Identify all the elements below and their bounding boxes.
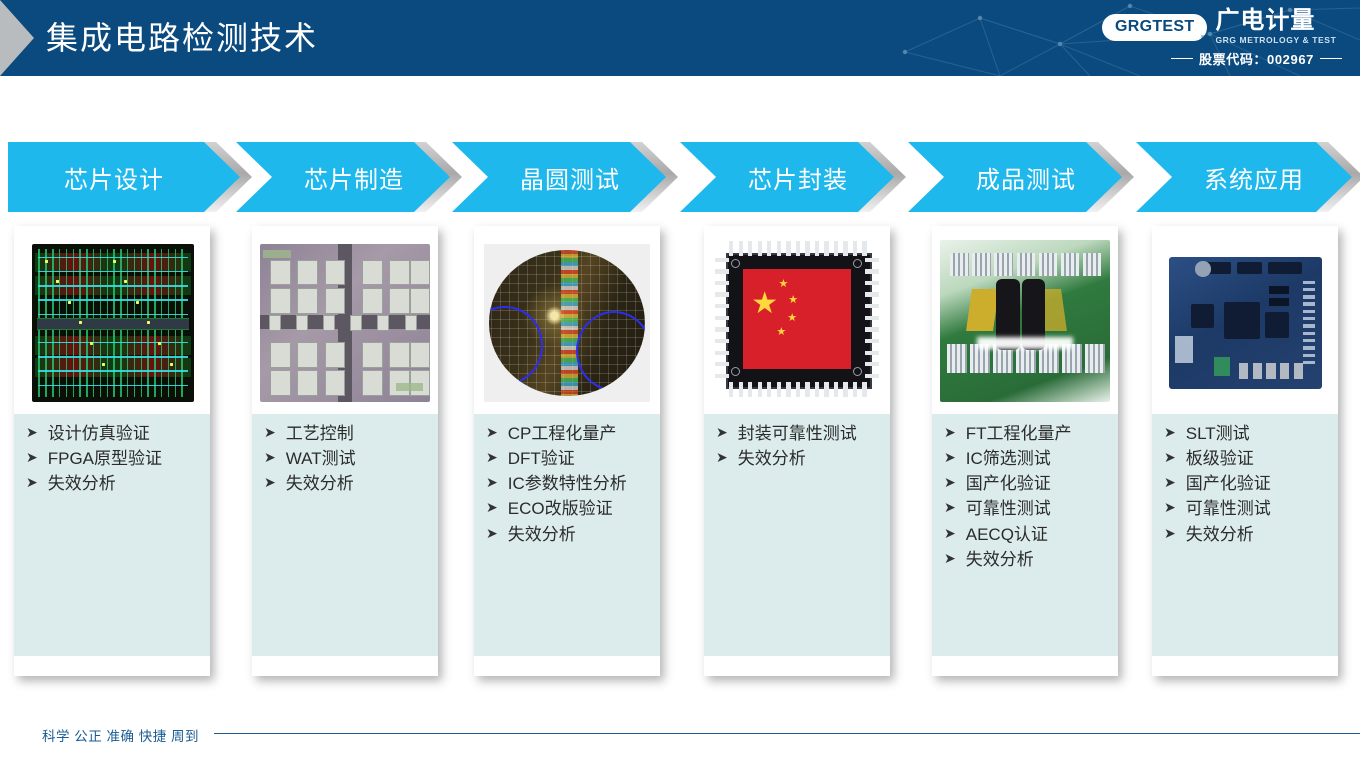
arrow-bullet-icon: ➤ bbox=[26, 422, 38, 444]
list-item[interactable]: ➤FPGA原型验证 bbox=[26, 447, 204, 471]
list-item[interactable]: ➤可靠性测试 bbox=[944, 497, 1112, 521]
list-item[interactable]: ➤封装可靠性测试 bbox=[716, 422, 884, 446]
arrow-bullet-icon: ➤ bbox=[716, 422, 728, 444]
ic-layout-thumbnail bbox=[32, 244, 194, 402]
stage-card-6[interactable]: ➤SLT测试➤板级验证➤国产化验证➤可靠性测试➤失效分析 bbox=[1152, 226, 1338, 676]
ic-layout-art bbox=[32, 244, 194, 402]
bullet-list: ➤设计仿真验证➤FPGA原型验证➤失效分析 bbox=[20, 422, 204, 496]
stage-image-2 bbox=[252, 226, 438, 414]
bullet-list: ➤SLT测试➤板级验证➤国产化验证➤可靠性测试➤失效分析 bbox=[1158, 422, 1332, 547]
arrow-bullet-icon: ➤ bbox=[1164, 523, 1176, 545]
chevron-stage-3[interactable]: 晶圆测试 bbox=[452, 142, 666, 212]
chevron-stage-2[interactable]: 芯片制造 bbox=[236, 142, 450, 212]
stage-card-4[interactable]: ★★★★★➤封装可靠性测试➤失效分析 bbox=[704, 226, 890, 676]
arrow-bullet-icon: ➤ bbox=[486, 447, 498, 469]
chevron-stage-5[interactable]: 成品测试 bbox=[908, 142, 1122, 212]
arrow-bullet-icon: ➤ bbox=[1164, 497, 1176, 519]
stage-items-5: ➤FT工程化量产➤IC筛选测试➤国产化验证➤可靠性测试➤AECQ认证➤失效分析 bbox=[932, 414, 1118, 656]
test-board-thumbnail bbox=[940, 240, 1110, 402]
page-footer: 科学 公正 准确 快捷 周到 bbox=[0, 713, 1360, 759]
arrow-bullet-icon: ➤ bbox=[264, 472, 276, 494]
company-logo: GRGTEST ® 广电计量 GRG METROLOGY & TEST 股票代码… bbox=[1102, 10, 1342, 68]
list-item-label: 设计仿真验证 bbox=[48, 422, 204, 446]
chevron-label: 系统应用 bbox=[1204, 160, 1304, 195]
list-item-label: SLT测试 bbox=[1186, 422, 1332, 446]
stage-items-6: ➤SLT测试➤板级验证➤国产化验证➤可靠性测试➤失效分析 bbox=[1152, 414, 1338, 656]
stage-items-3: ➤CP工程化量产➤DFT验证➤IC参数特性分析➤ECO改版验证➤失效分析 bbox=[474, 414, 660, 656]
list-item[interactable]: ➤板级验证 bbox=[1164, 447, 1332, 471]
chevron-stage-4[interactable]: 芯片封装 bbox=[680, 142, 894, 212]
chevron-label: 晶圆测试 bbox=[520, 160, 620, 195]
list-item-label: 失效分析 bbox=[738, 447, 884, 471]
list-item-label: 国产化验证 bbox=[966, 472, 1112, 496]
chevron-stage-6[interactable]: 系统应用 bbox=[1136, 142, 1352, 212]
page-title: 集成电路检测技术 bbox=[46, 13, 318, 59]
stock-code-text: 股票代码：002967 bbox=[1199, 49, 1314, 68]
arrow-bullet-icon: ➤ bbox=[944, 472, 956, 494]
chevron-label: 芯片制造 bbox=[304, 160, 404, 195]
arrow-bullet-icon: ➤ bbox=[264, 422, 276, 444]
arrow-bullet-icon: ➤ bbox=[944, 497, 956, 519]
arrow-bullet-icon: ➤ bbox=[486, 422, 498, 444]
footer-slogan: 科学 公正 准确 快捷 周到 bbox=[42, 725, 199, 745]
stage-image-3 bbox=[474, 226, 660, 414]
arrow-bullet-icon: ➤ bbox=[716, 447, 728, 469]
list-item-label: 失效分析 bbox=[966, 548, 1112, 572]
list-item-label: 板级验证 bbox=[1186, 447, 1332, 471]
stage-items-2: ➤工艺控制➤WAT测试➤失效分析 bbox=[252, 414, 438, 656]
arrow-bullet-icon: ➤ bbox=[944, 422, 956, 444]
arrow-bullet-icon: ➤ bbox=[944, 523, 956, 545]
list-item[interactable]: ➤CP工程化量产 bbox=[486, 422, 654, 446]
list-item[interactable]: ➤设计仿真验证 bbox=[26, 422, 204, 446]
list-item-label: 可靠性测试 bbox=[966, 497, 1112, 521]
arrow-bullet-icon: ➤ bbox=[486, 523, 498, 545]
footer-rule bbox=[214, 733, 1360, 734]
list-item-label: 国产化验证 bbox=[1186, 472, 1332, 496]
process-chevron-band: 芯片设计芯片制造晶圆测试芯片封装成品测试系统应用 bbox=[0, 142, 1360, 212]
arrow-bullet-icon: ➤ bbox=[26, 447, 38, 469]
arrow-bullet-icon: ➤ bbox=[1164, 422, 1176, 444]
logo-chinese-name: 广电计量 bbox=[1215, 9, 1315, 33]
list-item-label: 可靠性测试 bbox=[1186, 497, 1332, 521]
list-item[interactable]: ➤失效分析 bbox=[264, 472, 432, 496]
stage-image-5 bbox=[932, 226, 1118, 414]
arrow-bullet-icon: ➤ bbox=[1164, 447, 1176, 469]
arrow-bullet-icon: ➤ bbox=[264, 447, 276, 469]
stock-code-rule-left bbox=[1171, 58, 1193, 59]
list-item-label: IC筛选测试 bbox=[966, 447, 1112, 471]
grgtest-text: GRGTEST bbox=[1115, 18, 1194, 36]
list-item[interactable]: ➤失效分析 bbox=[944, 548, 1112, 572]
list-item-label: DFT验证 bbox=[508, 447, 654, 471]
stage-card-5[interactable]: ➤FT工程化量产➤IC筛选测试➤国产化验证➤可靠性测试➤AECQ认证➤失效分析 bbox=[932, 226, 1118, 676]
list-item-label: 失效分析 bbox=[48, 472, 204, 496]
list-item[interactable]: ➤IC参数特性分析 bbox=[486, 472, 654, 496]
list-item[interactable]: ➤失效分析 bbox=[1164, 523, 1332, 547]
silicon-wafer-art bbox=[484, 244, 650, 402]
arrow-bullet-icon: ➤ bbox=[26, 472, 38, 494]
list-item[interactable]: ➤国产化验证 bbox=[1164, 472, 1332, 496]
registered-mark: ® bbox=[1201, 36, 1206, 42]
list-item[interactable]: ➤FT工程化量产 bbox=[944, 422, 1112, 446]
stage-image-1 bbox=[14, 226, 210, 414]
list-item-label: 失效分析 bbox=[1186, 523, 1332, 547]
stage-image-4: ★★★★★ bbox=[704, 226, 890, 414]
stage-card-2[interactable]: ➤工艺控制➤WAT测试➤失效分析 bbox=[252, 226, 438, 676]
list-item[interactable]: ➤失效分析 bbox=[486, 523, 654, 547]
chevron-label: 芯片封装 bbox=[748, 160, 848, 195]
arrow-bullet-icon: ➤ bbox=[1164, 472, 1176, 494]
list-item[interactable]: ➤IC筛选测试 bbox=[944, 447, 1112, 471]
chip-package-flag-thumbnail: ★★★★★ bbox=[712, 236, 882, 402]
stage-image-6 bbox=[1152, 226, 1338, 414]
list-item[interactable]: ➤SLT测试 bbox=[1164, 422, 1332, 446]
chevron-label: 成品测试 bbox=[976, 160, 1076, 195]
list-item-label: WAT测试 bbox=[286, 447, 432, 471]
stage-card-3[interactable]: ➤CP工程化量产➤DFT验证➤IC参数特性分析➤ECO改版验证➤失效分析 bbox=[474, 226, 660, 676]
bullet-list: ➤封装可靠性测试➤失效分析 bbox=[710, 422, 884, 471]
development-board-art bbox=[1160, 244, 1330, 402]
die-micrograph-thumbnail bbox=[260, 244, 430, 402]
stage-items-4: ➤封装可靠性测试➤失效分析 bbox=[704, 414, 890, 656]
arrow-bullet-icon: ➤ bbox=[944, 447, 956, 469]
page-header: 集成电路检测技术 GRGTEST ® 广电计量 GRG METROLOGY & … bbox=[0, 0, 1360, 76]
bullet-list: ➤工艺控制➤WAT测试➤失效分析 bbox=[258, 422, 432, 496]
arrow-bullet-icon: ➤ bbox=[486, 497, 498, 519]
test-board-art bbox=[940, 240, 1110, 402]
list-item[interactable]: ➤WAT测试 bbox=[264, 447, 432, 471]
list-item-label: 失效分析 bbox=[286, 472, 432, 496]
list-item[interactable]: ➤国产化验证 bbox=[944, 472, 1112, 496]
list-item[interactable]: ➤AECQ认证 bbox=[944, 523, 1112, 547]
logo-english-name: GRG METROLOGY & TEST bbox=[1215, 36, 1336, 45]
grgtest-wordmark: GRGTEST ® bbox=[1102, 14, 1207, 41]
list-item-label: AECQ认证 bbox=[966, 523, 1112, 547]
bullet-list: ➤CP工程化量产➤DFT验证➤IC参数特性分析➤ECO改版验证➤失效分析 bbox=[480, 422, 654, 547]
list-item[interactable]: ➤失效分析 bbox=[26, 472, 204, 496]
silicon-wafer-thumbnail bbox=[484, 244, 650, 402]
list-item-label: ECO改版验证 bbox=[508, 497, 654, 521]
list-item-label: FPGA原型验证 bbox=[48, 447, 204, 471]
chevron-stage-1[interactable]: 芯片设计 bbox=[8, 142, 240, 212]
list-item-label: IC参数特性分析 bbox=[508, 472, 654, 496]
stock-code-row: 股票代码：002967 bbox=[1102, 49, 1342, 68]
list-item-label: 封装可靠性测试 bbox=[738, 422, 884, 446]
stock-code-rule-right bbox=[1320, 58, 1342, 59]
arrow-bullet-icon: ➤ bbox=[486, 472, 498, 494]
list-item[interactable]: ➤失效分析 bbox=[716, 447, 884, 471]
arrow-bullet-icon: ➤ bbox=[944, 548, 956, 570]
list-item-label: CP工程化量产 bbox=[508, 422, 654, 446]
list-item-label: 工艺控制 bbox=[286, 422, 432, 446]
list-item[interactable]: ➤DFT验证 bbox=[486, 447, 654, 471]
die-micrograph-art bbox=[260, 244, 430, 402]
list-item-label: FT工程化量产 bbox=[966, 422, 1112, 446]
list-item[interactable]: ➤ECO改版验证 bbox=[486, 497, 654, 521]
chevron-label: 芯片设计 bbox=[64, 160, 164, 195]
stage-items-1: ➤设计仿真验证➤FPGA原型验证➤失效分析 bbox=[14, 414, 210, 656]
list-item[interactable]: ➤工艺控制 bbox=[264, 422, 432, 446]
development-board-thumbnail bbox=[1160, 244, 1330, 402]
stage-card-1[interactable]: ➤设计仿真验证➤FPGA原型验证➤失效分析 bbox=[14, 226, 210, 676]
bullet-list: ➤FT工程化量产➤IC筛选测试➤国产化验证➤可靠性测试➤AECQ认证➤失效分析 bbox=[938, 422, 1112, 572]
list-item-label: 失效分析 bbox=[508, 523, 654, 547]
chip-package-flag-art: ★★★★★ bbox=[712, 236, 882, 402]
list-item[interactable]: ➤可靠性测试 bbox=[1164, 497, 1332, 521]
